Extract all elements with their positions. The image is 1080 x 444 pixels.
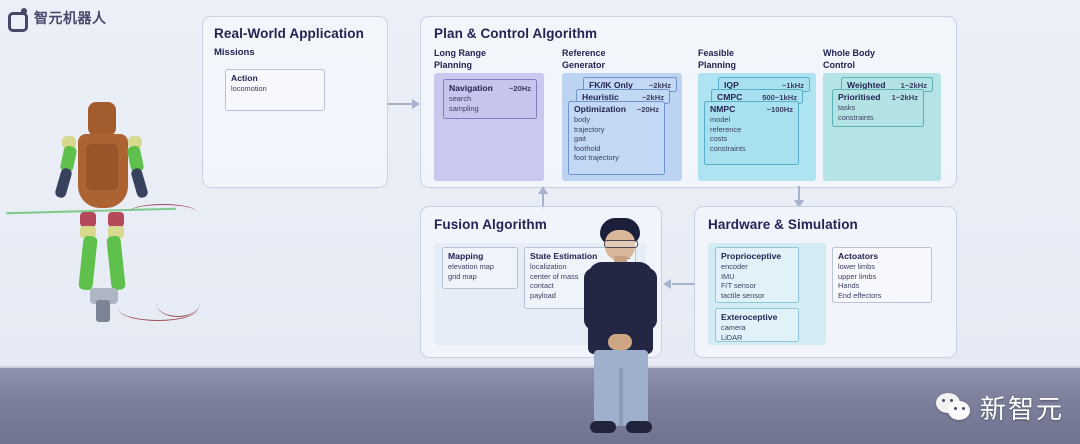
panel-plan-control-algorithm: Plan & Control Algorithm Long Range Plan… bbox=[420, 16, 957, 188]
panel-title-real-world: Real-World Application bbox=[214, 26, 364, 41]
card-navigation-name: Navigation bbox=[449, 83, 493, 93]
arrow-realworld-to-plan bbox=[388, 103, 414, 105]
card-prioritised-hz: 1~2kHz bbox=[884, 93, 918, 102]
card-optimization-name: Optimization bbox=[574, 104, 626, 114]
humanoid-robot-illustration bbox=[34, 100, 204, 340]
column-title-feasible-planning: Feasible Planning bbox=[698, 48, 736, 71]
brand-logo: 智元机器人 bbox=[8, 8, 107, 28]
card-nmpc-body: model reference costs constraints bbox=[705, 115, 798, 156]
presenter-person bbox=[572, 218, 668, 444]
panel-title-plan-control: Plan & Control Algorithm bbox=[434, 26, 597, 41]
card-exteroceptive-name: Exteroceptive bbox=[721, 312, 777, 322]
card-prioritised: Prioritised 1~2kHz tasks constraints bbox=[832, 89, 924, 127]
card-proprioceptive: Proprioceptive encoder IMU F/T sensor ta… bbox=[715, 247, 799, 303]
card-optimization-hz: ~20Hz bbox=[629, 105, 659, 114]
card-navigation: Navigation ~20Hz search sampling bbox=[443, 79, 537, 119]
card-exteroceptive-body: camera LiDAR bbox=[716, 323, 798, 345]
card-nmpc-name: NMPC bbox=[710, 104, 735, 114]
panel-title-hardware-simulation: Hardware & Simulation bbox=[708, 217, 858, 232]
channel-watermark: 新智元 bbox=[936, 389, 1064, 426]
card-exteroceptive: Exteroceptive camera LiDAR bbox=[715, 308, 799, 342]
card-nmpc-hz: ~100Hz bbox=[759, 105, 793, 114]
card-action-name: Action bbox=[231, 73, 258, 83]
column-title-reference-generator: Reference Generator bbox=[562, 48, 606, 71]
card-prioritised-name: Prioritised bbox=[838, 92, 881, 102]
card-action: Action locomotion bbox=[225, 69, 325, 111]
column-title-long-range-planning: Long Range Planning bbox=[434, 48, 486, 71]
panel-real-world-application: Real-World Application Missions Action l… bbox=[202, 16, 388, 188]
watermark-text: 新智元 bbox=[980, 389, 1064, 426]
brand-logo-text: 智元机器人 bbox=[34, 8, 107, 28]
stage-floor bbox=[0, 366, 1080, 444]
card-nmpc: NMPC ~100Hz model reference costs constr… bbox=[704, 101, 799, 165]
card-actoators-name: Actoators bbox=[838, 251, 878, 261]
card-optimization: Optimization ~20Hz body trajectory gait … bbox=[568, 101, 665, 175]
card-prioritised-body: tasks constraints bbox=[833, 103, 923, 125]
panel-title-fusion-algorithm: Fusion Algorithm bbox=[434, 217, 547, 232]
stage-scene: 智元机器人 Real-World Application Missions Ac… bbox=[0, 0, 1080, 444]
card-optimization-body: body trajectory gait foothold foot traje… bbox=[569, 115, 664, 166]
arrow-hardware-to-fusion bbox=[672, 283, 696, 285]
column-title-whole-body-control: Whole Body Control bbox=[823, 48, 875, 71]
arrow-realworld-to-plan-head bbox=[412, 99, 420, 109]
wechat-icon bbox=[936, 393, 972, 423]
card-actoators: Actoators lower limbs upper limbs Hands … bbox=[832, 247, 932, 303]
card-navigation-body: search sampling bbox=[444, 94, 536, 116]
card-actoators-body: lower limbs upper limbs Hands End effect… bbox=[833, 262, 931, 303]
card-proprioceptive-body: encoder IMU F/T sensor tactile sensor bbox=[716, 262, 798, 303]
card-mapping: Mapping elevation map grid map bbox=[442, 247, 518, 289]
card-mapping-name: Mapping bbox=[448, 251, 483, 261]
card-proprioceptive-name: Proprioceptive bbox=[721, 251, 781, 261]
card-mapping-body: elevation map grid map bbox=[443, 262, 517, 284]
card-action-body: locomotion bbox=[226, 84, 324, 97]
arrow-fusion-to-plan-head bbox=[538, 186, 548, 194]
agibot-mark-icon bbox=[8, 8, 28, 28]
label-missions: Missions bbox=[214, 47, 255, 59]
panel-hardware-simulation: Hardware & Simulation Proprioceptive enc… bbox=[694, 206, 957, 358]
card-navigation-hz: ~20Hz bbox=[501, 84, 531, 93]
